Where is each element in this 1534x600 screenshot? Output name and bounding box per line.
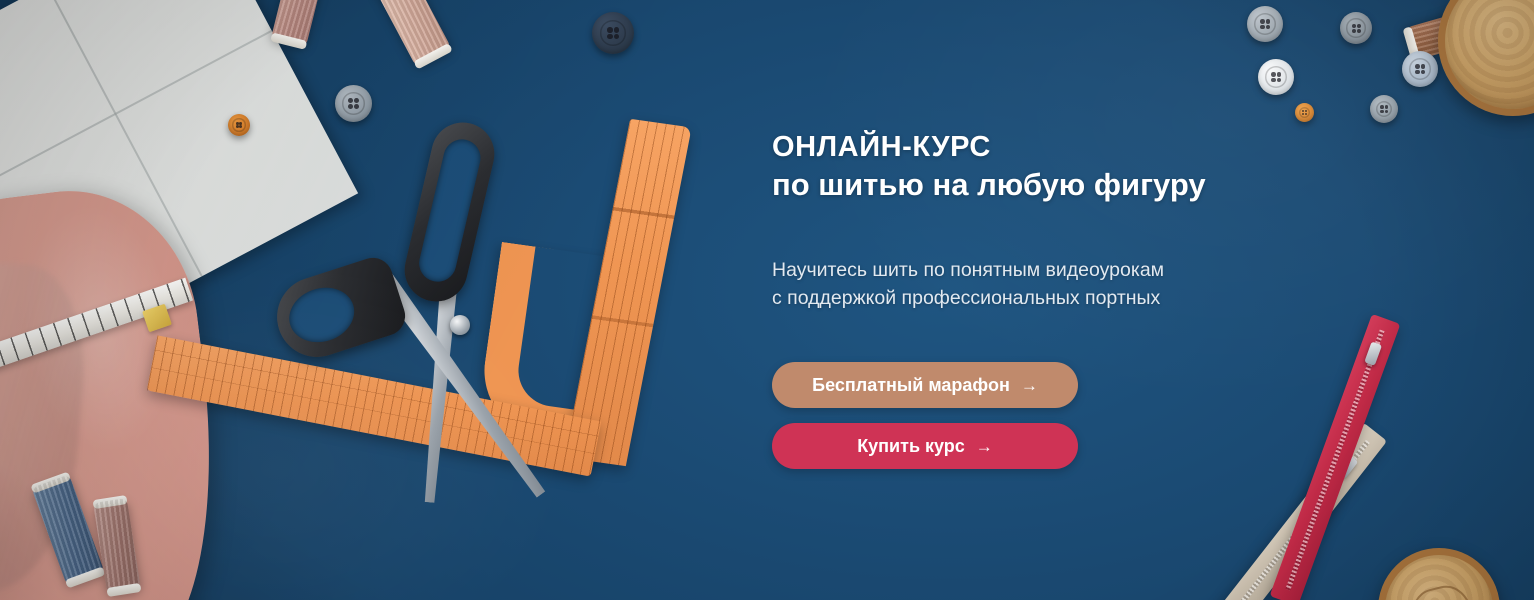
- sewing-button-gray-one: [335, 85, 372, 122]
- scissors-handle-lower: [267, 253, 411, 368]
- hero-banner: ОНЛАЙН-КУРС по шитью на любую фигуру Нау…: [0, 0, 1534, 600]
- button-holes: [592, 12, 634, 54]
- button-holes: [1402, 51, 1438, 87]
- thread-winding: [365, 0, 452, 67]
- scissors-pivot-screw: [450, 315, 470, 335]
- sewing-button-orange-one: [228, 114, 250, 136]
- scissors-handle-upper: [398, 116, 500, 308]
- hero-subtitle-line-2: с поддержкой профессиональных портных: [772, 284, 1392, 312]
- hero-subtitle: Научитесь шить по понятным видеоурокам с…: [772, 256, 1392, 313]
- hero-content: ОНЛАЙН-КУРС по шитью на любую фигуру Нау…: [772, 0, 1392, 600]
- free-marathon-label: Бесплатный марафон: [812, 375, 1010, 396]
- free-marathon-button[interactable]: Бесплатный марафон →: [772, 362, 1078, 408]
- cta-group: Бесплатный марафон → Купить курс →: [772, 362, 1392, 469]
- buy-course-button[interactable]: Купить курс →: [772, 423, 1078, 469]
- thread-spool-peach-one: [271, 0, 329, 47]
- thread-spool-peach-two: [365, 0, 452, 67]
- button-holes: [335, 85, 372, 122]
- thread-winding: [271, 0, 329, 47]
- hero-eyebrow: ОНЛАЙН-КУРС: [772, 131, 1392, 163]
- page-title: по шитью на любую фигуру: [772, 166, 1392, 203]
- wooden-disc-bottom: [1378, 548, 1500, 600]
- sewing-button-light-blue: [1402, 51, 1438, 87]
- sewing-button-navy: [592, 12, 634, 54]
- arrow-right-icon: →: [1021, 377, 1038, 394]
- wooden-disc-top: [1438, 0, 1534, 116]
- tailor-scissors: [300, 125, 630, 525]
- arrow-right-icon: →: [976, 438, 993, 455]
- buy-course-label: Купить курс: [857, 436, 965, 457]
- safety-pin-etching: [1406, 581, 1476, 600]
- hero-subtitle-line-1: Научитесь шить по понятным видеоурокам: [772, 256, 1392, 284]
- button-holes: [228, 114, 250, 136]
